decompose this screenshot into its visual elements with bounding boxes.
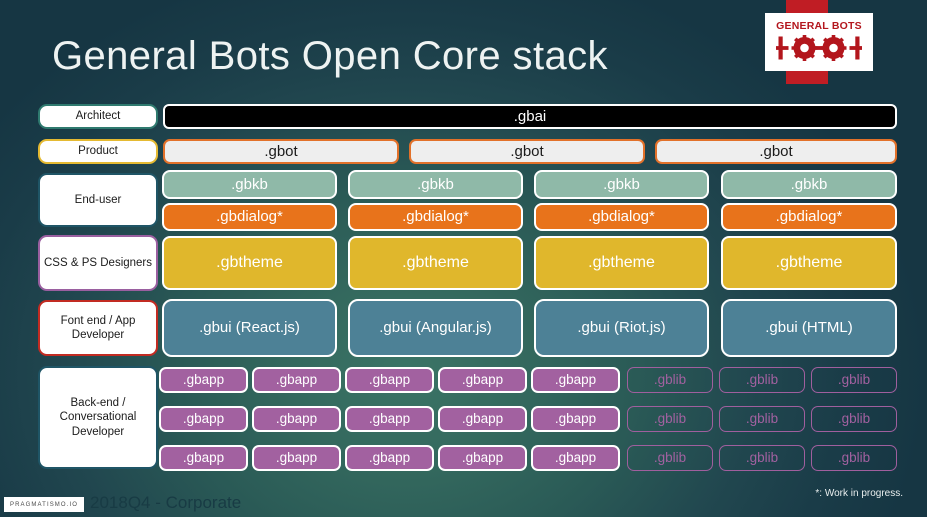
gbdialog-row-box-1: .gbdialog*: [348, 203, 523, 231]
role-label-text: End-user: [75, 193, 122, 207]
gbui-row-box-0: .gbui (React.js): [162, 299, 337, 357]
gbtheme-row-box-1: .gbtheme: [348, 236, 523, 290]
gbapp-gblib-row-1-box-2: .gbapp: [345, 367, 434, 393]
stack-box-label: .gbapp: [462, 411, 503, 427]
stack-box-label: .gbtheme: [216, 254, 283, 272]
stack-box-label: .gbot: [264, 143, 297, 160]
gbdialog-row-box-2: .gbdialog*: [534, 203, 709, 231]
stack-box-label: .gblib: [654, 411, 686, 427]
role-label-4: Font end / App Developer: [38, 300, 158, 356]
gbapp-gblib-row-3-box-0: .gbapp: [159, 445, 248, 471]
stack-box-label: .gbot: [510, 143, 543, 160]
stack-box-label: .gblib: [838, 411, 870, 427]
gbot-row-box-2: .gbot: [655, 139, 897, 164]
stack-box-label: .gbapp: [183, 450, 224, 466]
logo-wordmark: GENERAL BOTS: [776, 21, 862, 32]
stack-box-label: .gbapp: [276, 411, 317, 427]
gbapp-gblib-row-1-box-1: .gbapp: [252, 367, 341, 393]
stack-box-label: .gbapp: [555, 450, 596, 466]
page-title: General Bots Open Core stack: [52, 34, 608, 79]
slide-footer: PRAGMATISMO.IO 2018Q4 - Corporate *: Wor…: [0, 485, 927, 517]
gbapp-gblib-row-2-box-6: .gblib: [719, 406, 805, 432]
stack-box-label: .gbapp: [369, 372, 410, 388]
gbapp-gblib-row-1-box-7: .gblib: [811, 367, 897, 393]
gbapp-gblib-row-2-box-1: .gbapp: [252, 406, 341, 432]
footer-caption: 2018Q4 - Corporate: [90, 493, 241, 513]
gbapp-gblib-row-3-box-4: .gbapp: [531, 445, 620, 471]
role-label-0: Architect: [38, 104, 158, 129]
gbui-row-box-3: .gbui (HTML): [721, 299, 897, 357]
gbkb-row-box-0: .gbkb: [162, 170, 337, 199]
gbapp-gblib-row-1-box-5: .gblib: [627, 367, 713, 393]
role-label-text: Font end / App Developer: [44, 314, 152, 343]
stack-box-label: .gblib: [746, 372, 778, 388]
stack-box-label: .gbui (Angular.js): [379, 319, 492, 336]
stack-box-label: .gbapp: [555, 411, 596, 427]
slide-header: General Bots Open Core stack GENERAL BOT…: [0, 0, 927, 96]
general-bots-logo: GENERAL BOTS: [765, 13, 873, 71]
stack-box-label: .gbai: [514, 108, 547, 125]
stack-box-label: .gbtheme: [776, 254, 843, 272]
stack-box-label: .gbkb: [231, 176, 268, 193]
gbdialog-row-box-0: .gbdialog*: [162, 203, 337, 231]
gbapp-gblib-row-1-box-6: .gblib: [719, 367, 805, 393]
gbapp-gblib-row-2-box-5: .gblib: [627, 406, 713, 432]
role-label-1: Product: [38, 139, 158, 164]
gbtheme-row-box-0: .gbtheme: [162, 236, 337, 290]
gbkb-row-box-1: .gbkb: [348, 170, 523, 199]
stack-box-label: .gbui (HTML): [765, 319, 853, 336]
slide-canvas: General Bots Open Core stack GENERAL BOT…: [0, 0, 927, 517]
gbapp-gblib-row-1-box-0: .gbapp: [159, 367, 248, 393]
role-label-text: Back-end / Conversational Developer: [44, 396, 152, 439]
stack-box-label: .gbkb: [791, 176, 828, 193]
gbai-row-box-0: .gbai: [163, 104, 897, 129]
stack-box-label: .gbapp: [462, 372, 503, 388]
stack-box-label: .gblib: [746, 450, 778, 466]
stack-box-label: .gblib: [654, 372, 686, 388]
stack-box-label: .gbapp: [462, 450, 503, 466]
gbapp-gblib-row-2-box-2: .gbapp: [345, 406, 434, 432]
gbtheme-row-box-3: .gbtheme: [721, 236, 897, 290]
stack-box-label: .gbtheme: [402, 254, 469, 272]
stack-box-label: .gbapp: [276, 372, 317, 388]
role-label-5: Back-end / Conversational Developer: [38, 366, 158, 469]
gbui-row-box-1: .gbui (Angular.js): [348, 299, 523, 357]
stack-box-label: .gblib: [838, 450, 870, 466]
stack-box-label: .gbui (React.js): [199, 319, 300, 336]
stack-box-label: .gbui (Riot.js): [577, 319, 665, 336]
gbapp-gblib-row-1-box-3: .gbapp: [438, 367, 527, 393]
gbapp-gblib-row-3-box-2: .gbapp: [345, 445, 434, 471]
stack-box-label: .gbapp: [369, 411, 410, 427]
stack-box-label: .gbdialog*: [402, 208, 469, 225]
stack-box-label: .gbapp: [276, 450, 317, 466]
stack-box-label: .gbapp: [183, 372, 224, 388]
gbapp-gblib-row-2-box-4: .gbapp: [531, 406, 620, 432]
stack-box-label: .gblib: [654, 450, 686, 466]
role-label-text: Architect: [76, 109, 121, 123]
stack-box-label: .gbkb: [417, 176, 454, 193]
gbot-row-box-0: .gbot: [163, 139, 399, 164]
gbapp-gblib-row-1-box-4: .gbapp: [531, 367, 620, 393]
gbot-row-box-1: .gbot: [409, 139, 645, 164]
stack-box-label: .gbapp: [183, 411, 224, 427]
gbkb-row-box-3: .gbkb: [721, 170, 897, 199]
gbapp-gblib-row-2-box-0: .gbapp: [159, 406, 248, 432]
gbapp-gblib-row-3-box-3: .gbapp: [438, 445, 527, 471]
gbapp-gblib-row-3-box-6: .gblib: [719, 445, 805, 471]
gbapp-gblib-row-3-box-5: .gblib: [627, 445, 713, 471]
stack-box-label: .gbapp: [369, 450, 410, 466]
stack-box-label: .gbdialog*: [776, 208, 843, 225]
gbapp-gblib-row-3-box-1: .gbapp: [252, 445, 341, 471]
stack-box-label: .gblib: [838, 372, 870, 388]
stack-box-label: .gbtheme: [588, 254, 655, 272]
gbkb-row-box-2: .gbkb: [534, 170, 709, 199]
pragmatismo-logo: PRAGMATISMO.IO: [4, 497, 84, 512]
two-gears-icon: [776, 33, 862, 63]
gbapp-gblib-row-2-box-7: .gblib: [811, 406, 897, 432]
gbapp-gblib-row-3-box-7: .gblib: [811, 445, 897, 471]
gbapp-gblib-row-2-box-3: .gbapp: [438, 406, 527, 432]
stack-box-label: .gblib: [746, 411, 778, 427]
gbtheme-row-box-2: .gbtheme: [534, 236, 709, 290]
role-label-text: CSS & PS Designers: [44, 256, 152, 270]
role-label-3: CSS & PS Designers: [38, 235, 158, 291]
role-label-text: Product: [78, 144, 118, 158]
stack-box-label: .gbdialog*: [216, 208, 283, 225]
stack-box-label: .gbdialog*: [588, 208, 655, 225]
gbui-row-box-2: .gbui (Riot.js): [534, 299, 709, 357]
role-label-2: End-user: [38, 173, 158, 227]
stack-box-label: .gbot: [759, 143, 792, 160]
stack-box-label: .gbkb: [603, 176, 640, 193]
work-in-progress-footnote: *: Work in progress.: [815, 488, 903, 499]
stack-box-label: .gbapp: [555, 372, 596, 388]
gbdialog-row-box-3: .gbdialog*: [721, 203, 897, 231]
